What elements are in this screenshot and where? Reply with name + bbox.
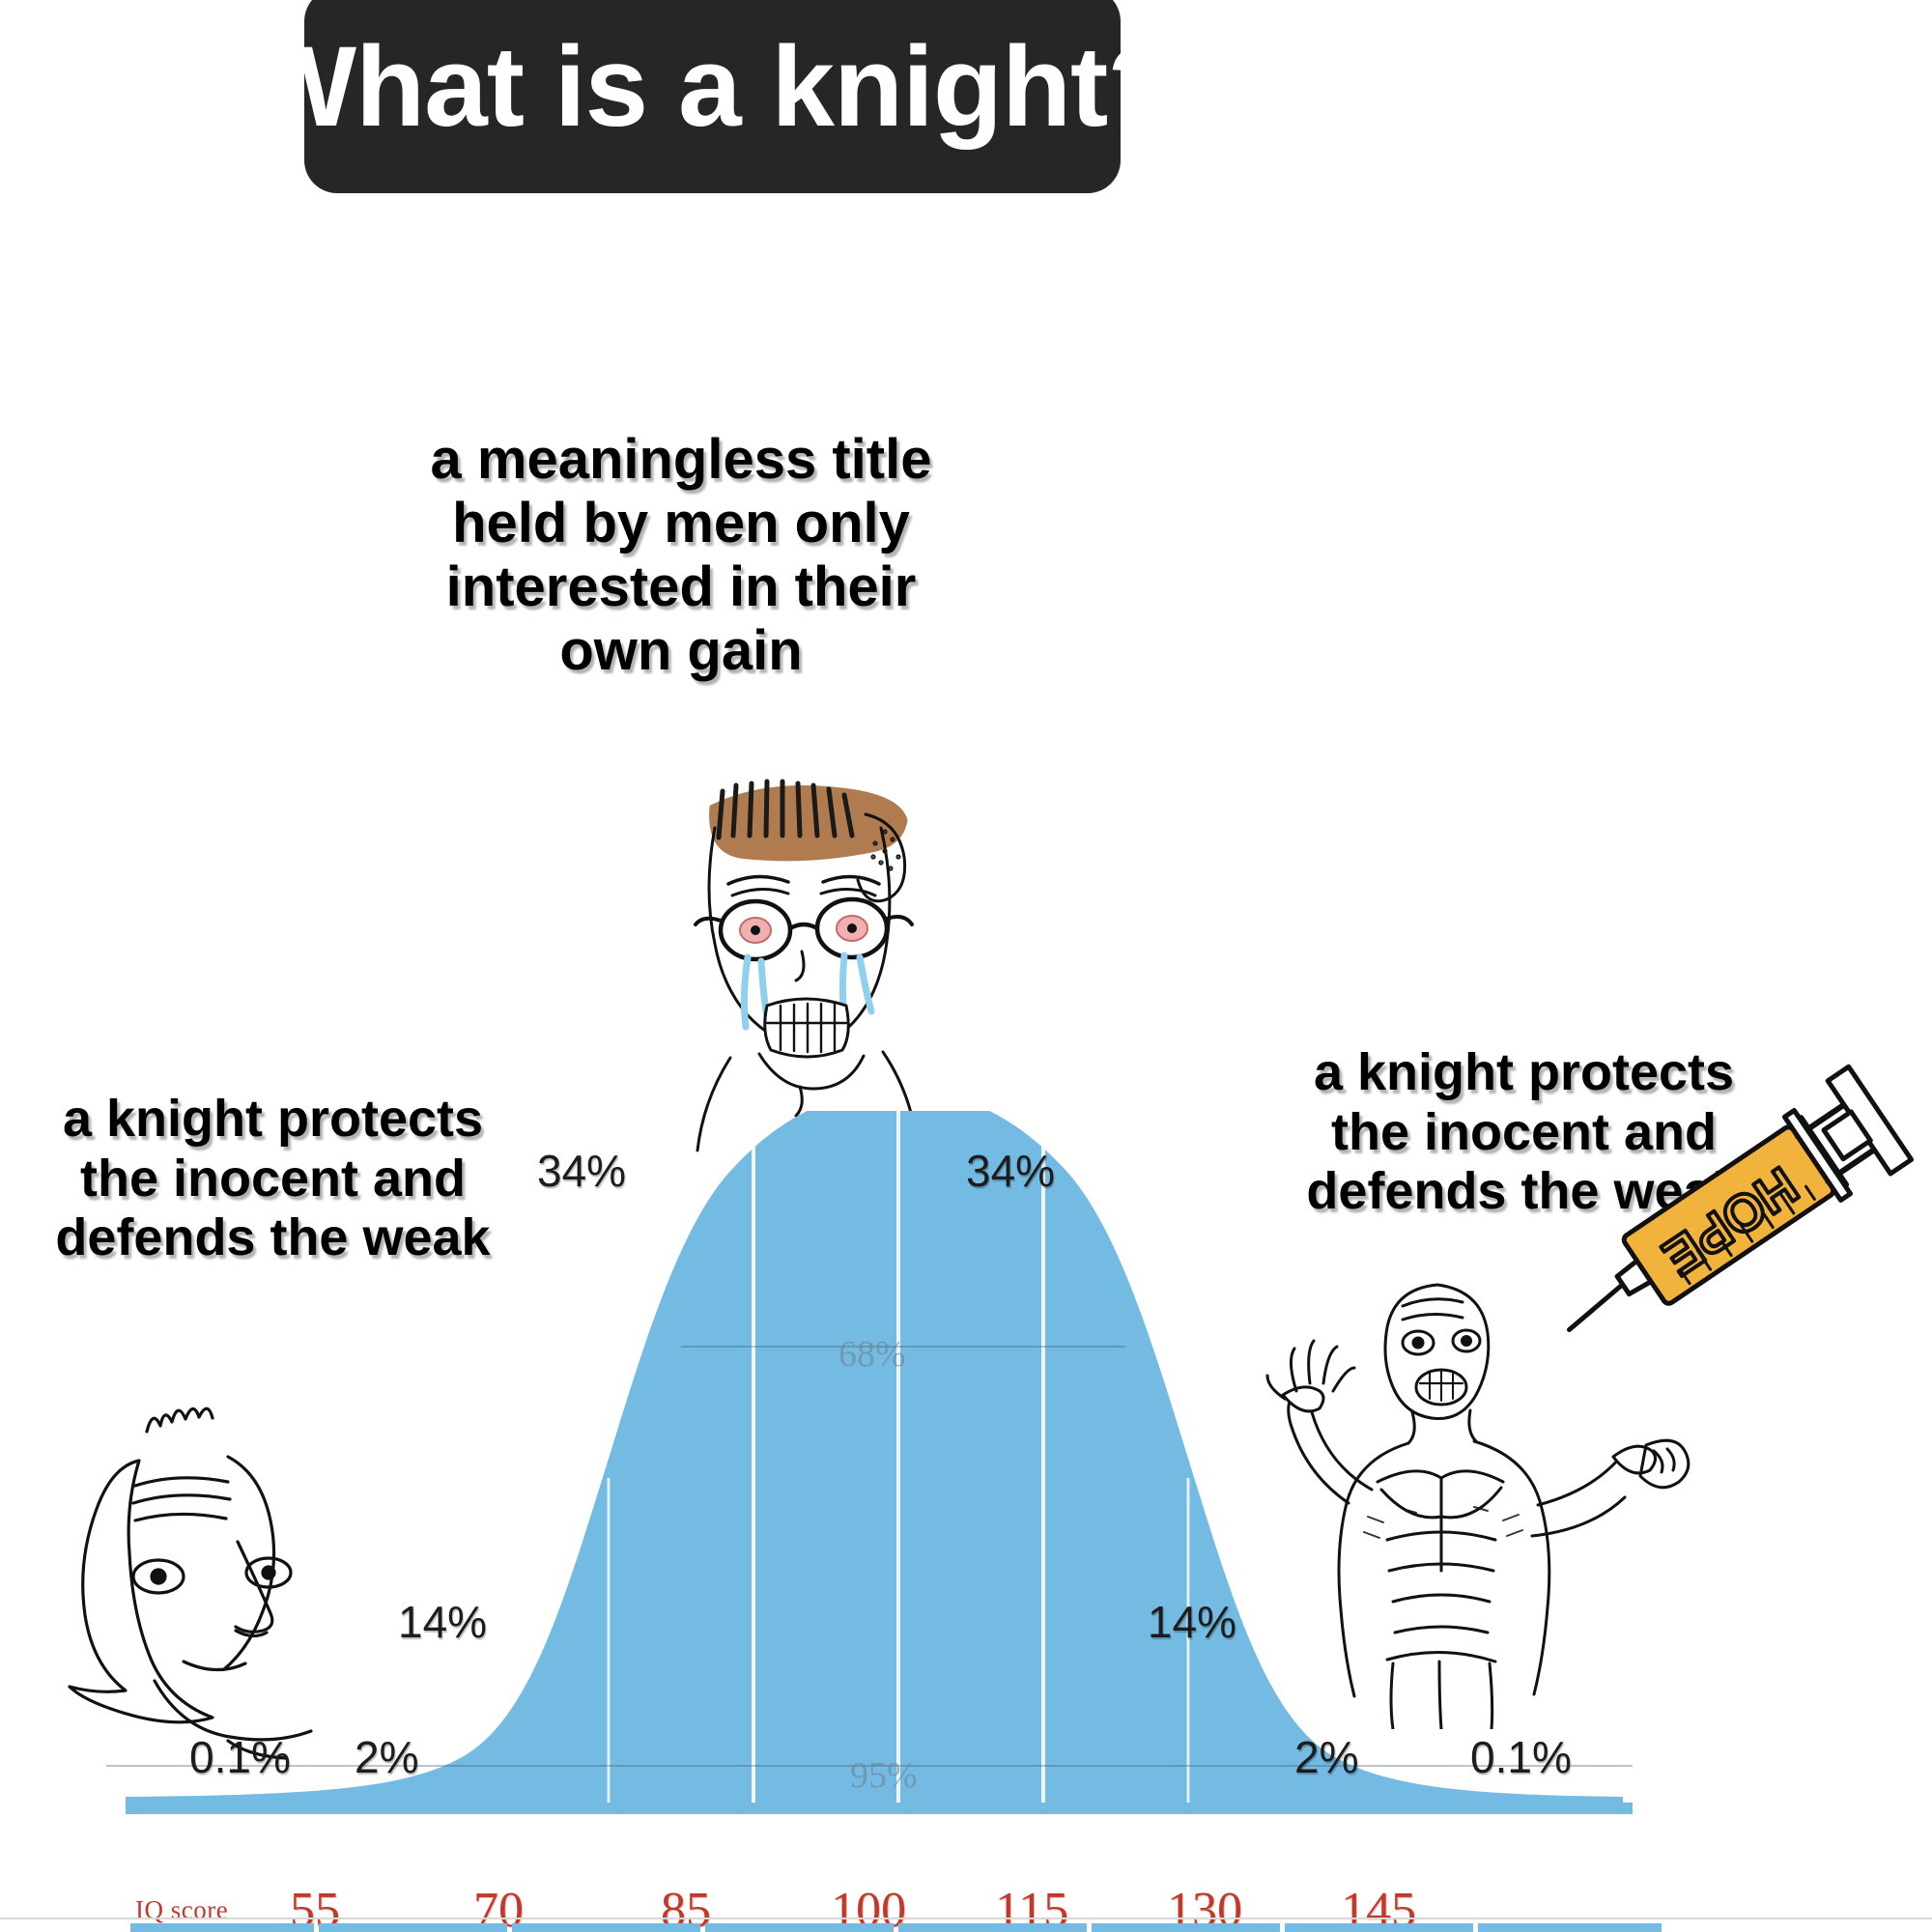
span-label-95: 95%: [850, 1754, 918, 1797]
pct-label-14-right: 14%: [1148, 1596, 1236, 1648]
bottom-chart-strip: [0, 1918, 1932, 1932]
strip-segment: [898, 1923, 1087, 1932]
strip-segment: [1092, 1923, 1280, 1932]
page-title: What is a knight?: [249, 30, 1177, 152]
meme-canvas: What is a knight? a meaningless title he…: [0, 0, 1932, 1932]
strip-segment: [512, 1923, 700, 1932]
pct-label-01-right: 0.1%: [1470, 1731, 1572, 1783]
crying-soyjak-figure: [676, 768, 995, 1154]
pct-label-2-right: 2%: [1294, 1731, 1358, 1783]
strip-segment: [130, 1923, 314, 1932]
pct-label-2-left: 2%: [355, 1731, 418, 1783]
span-label-68: 68%: [838, 1333, 906, 1376]
normal-distribution-area: [126, 1111, 1623, 1808]
pct-label-01-left: 0.1%: [189, 1731, 291, 1783]
strip-segment: [1478, 1923, 1662, 1932]
strip-segment: [705, 1923, 894, 1932]
strip-segment: [319, 1923, 507, 1932]
title-banner: What is a knight?: [304, 0, 1121, 193]
pct-label-14-left: 14%: [398, 1596, 487, 1648]
pct-label-34-right: 34%: [966, 1145, 1055, 1197]
pct-label-34-left: 34%: [537, 1145, 626, 1197]
strip-segment: [1285, 1923, 1473, 1932]
caption-center: a meaningless title held by men only int…: [425, 428, 937, 683]
